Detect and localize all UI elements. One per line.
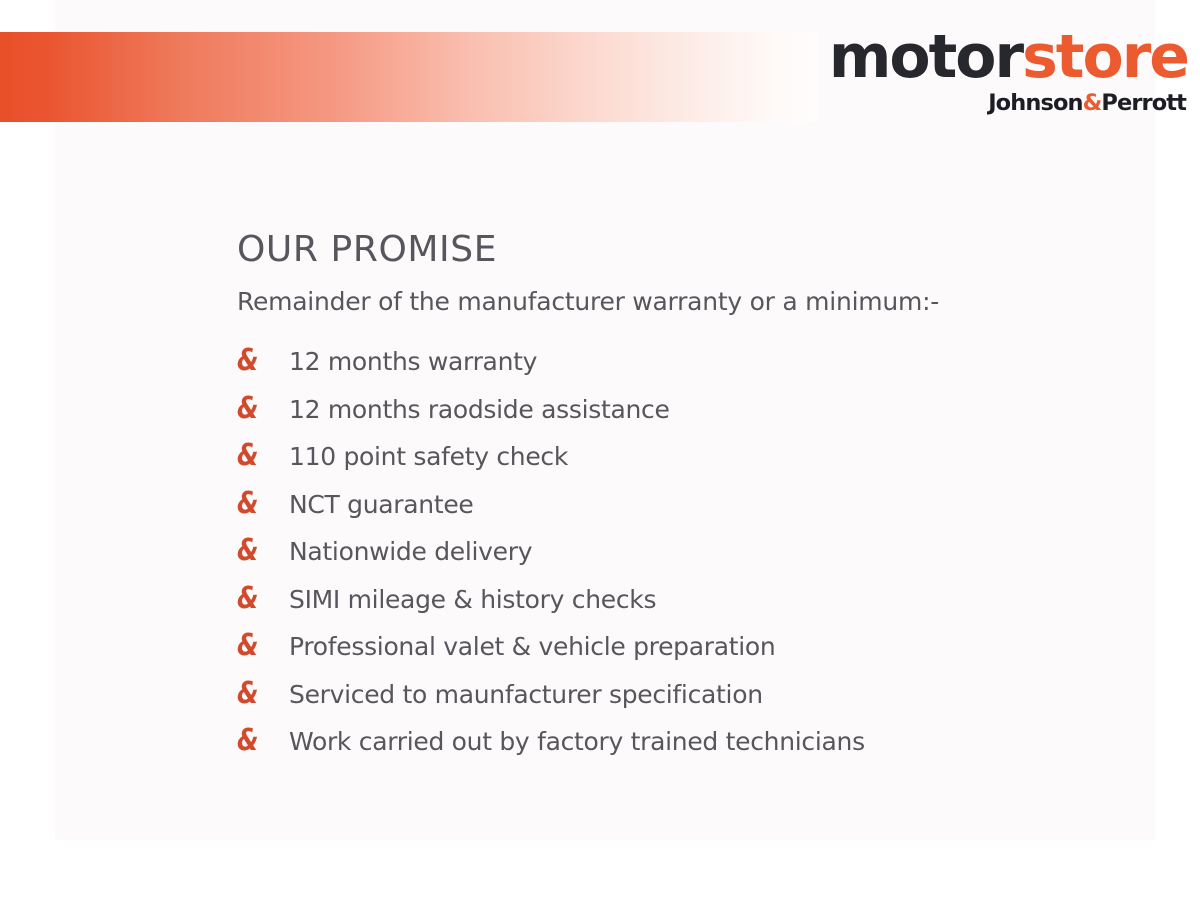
promise-slide: motorstore Johnson&Perrott OUR PROMISE R…: [0, 0, 1200, 900]
list-item-label: Work carried out by factory trained tech…: [289, 725, 1137, 759]
page-title: OUR PROMISE: [237, 228, 1137, 272]
list-item: & 12 months raodside assistance: [237, 392, 1137, 433]
list-item-label: Serviced to maunfacturer specification: [289, 678, 1137, 712]
list-item-label: Nationwide delivery: [289, 535, 1137, 569]
logo-wordmark-store: store: [1022, 22, 1188, 92]
list-item: & Serviced to maunfacturer specification: [237, 677, 1137, 718]
list-item: & NCT guarantee: [237, 487, 1137, 528]
list-item: & Work carried out by factory trained te…: [237, 724, 1137, 765]
ampersand-bullet-icon: &: [237, 582, 280, 616]
slide-header: motorstore Johnson&Perrott: [0, 0, 1200, 135]
ampersand-bullet-icon: &: [237, 344, 280, 378]
list-item-label: 110 point safety check: [289, 440, 1137, 474]
logo-subwordmark: Johnson&Perrott: [828, 90, 1188, 116]
list-item-label: Professional valet & vehicle preparation: [289, 630, 1137, 664]
list-item: & SIMI mileage & history checks: [237, 582, 1137, 623]
promise-list: & 12 months warranty & 12 months raodsid…: [237, 344, 1137, 765]
ampersand-bullet-icon: &: [237, 439, 280, 473]
list-item-label: 12 months raodside assistance: [289, 393, 1137, 427]
page-subtitle: Remainder of the manufacturer warranty o…: [237, 286, 1137, 318]
ampersand-bullet-icon: &: [237, 392, 280, 426]
logo-wordmark-motor: motor: [829, 22, 1022, 92]
list-item-label: 12 months warranty: [289, 345, 1137, 379]
list-item: & Nationwide delivery: [237, 534, 1137, 575]
list-item: & 110 point safety check: [237, 439, 1137, 480]
ampersand-bullet-icon: &: [237, 629, 280, 663]
list-item: & 12 months warranty: [237, 344, 1137, 385]
decorative-gradient-bar: [0, 32, 818, 122]
list-item: & Professional valet & vehicle preparati…: [237, 629, 1137, 670]
ampersand-bullet-icon: &: [237, 534, 280, 568]
ampersand-icon: &: [1083, 90, 1102, 116]
logo-wordmark: motorstore: [828, 26, 1188, 88]
ampersand-bullet-icon: &: [237, 677, 280, 711]
list-item-label: SIMI mileage & history checks: [289, 583, 1137, 617]
promise-block: OUR PROMISE Remainder of the manufacture…: [237, 228, 1137, 772]
list-item-label: NCT guarantee: [289, 488, 1137, 522]
logo-sub-perrott: Perrott: [1101, 90, 1186, 116]
brand-logo: motorstore Johnson&Perrott: [828, 26, 1188, 116]
ampersand-bullet-icon: &: [237, 724, 280, 758]
logo-sub-johnson: Johnson: [988, 90, 1082, 116]
ampersand-bullet-icon: &: [237, 487, 280, 521]
